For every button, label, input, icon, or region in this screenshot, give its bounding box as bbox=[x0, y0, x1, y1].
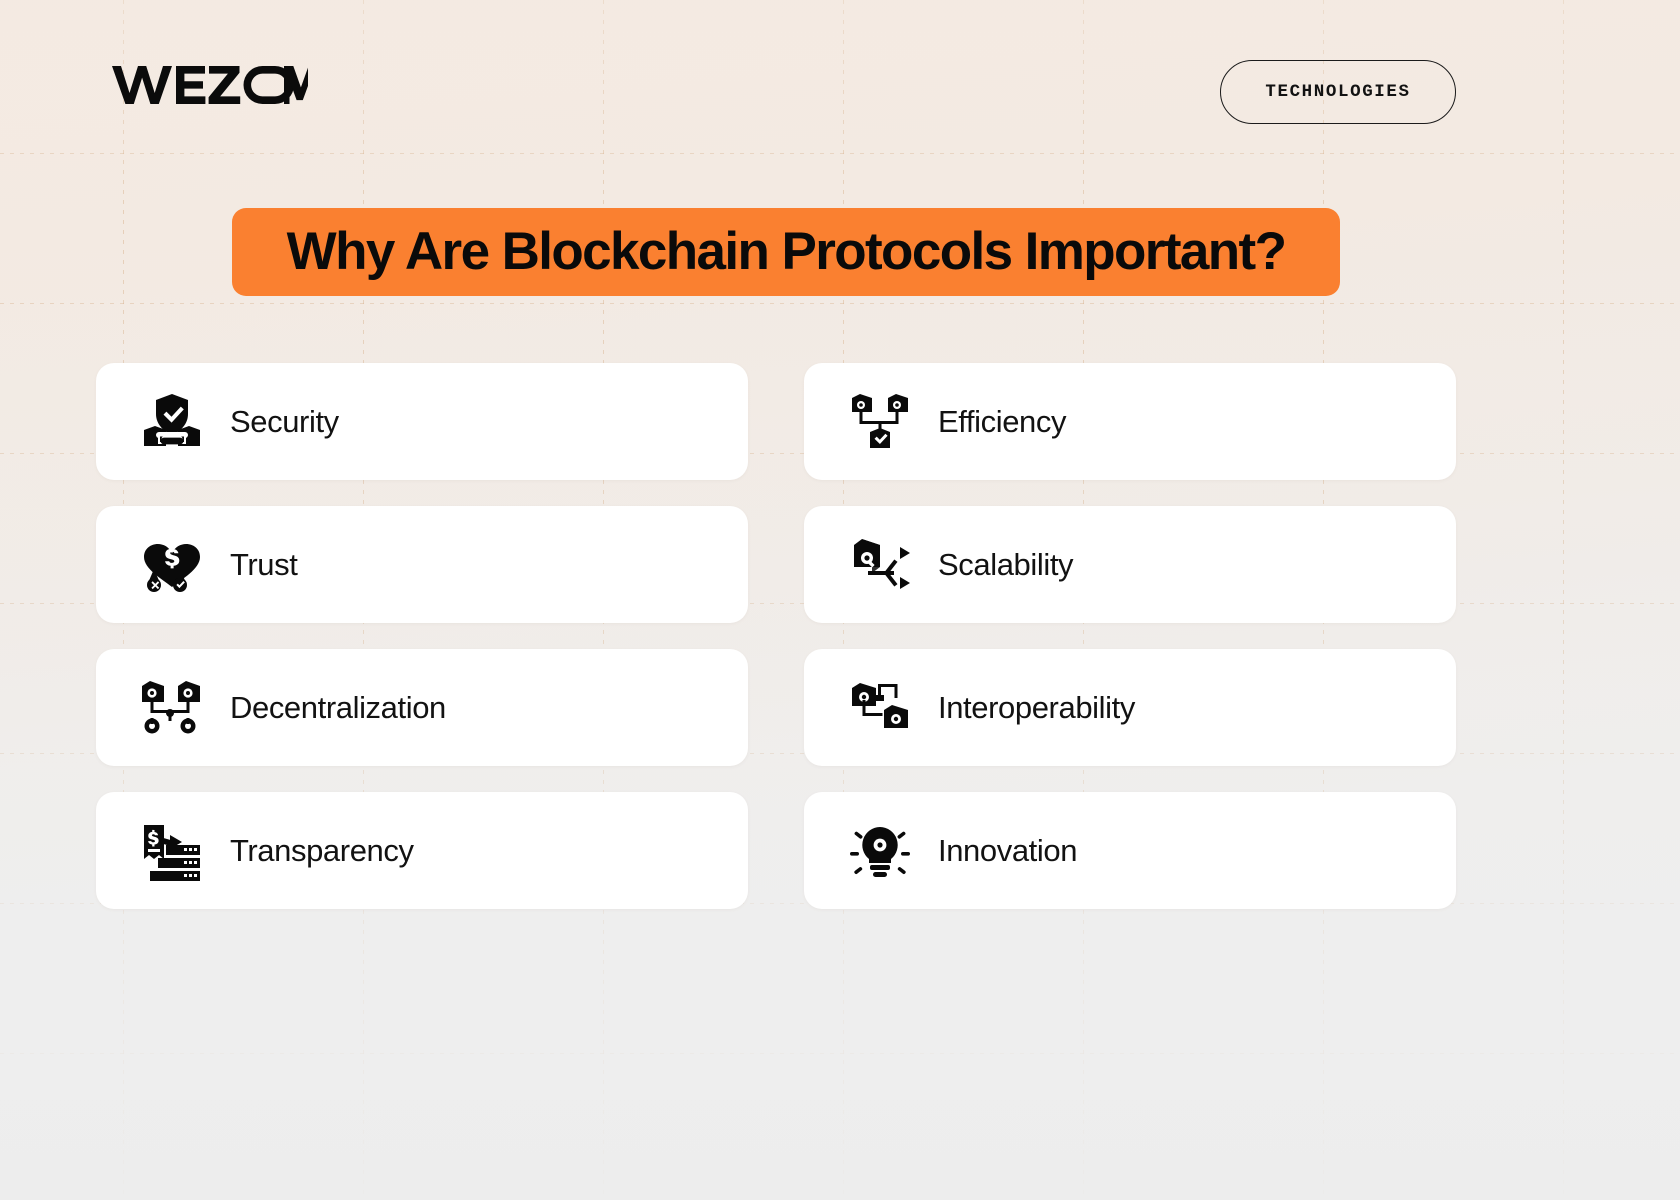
card-label: Decentralization bbox=[230, 692, 446, 723]
card-label: Interoperability bbox=[938, 692, 1135, 723]
card-trust[interactable]: Trust bbox=[96, 506, 748, 623]
card-label: Efficiency bbox=[938, 406, 1066, 437]
cube-branching-arrows-icon bbox=[844, 529, 916, 601]
page-title: Why Are Blockchain Protocols Important? bbox=[287, 225, 1286, 278]
technologies-badge-label: TECHNOLOGIES bbox=[1265, 82, 1410, 102]
card-label: Transparency bbox=[230, 835, 414, 866]
distributed-nodes-icon bbox=[136, 672, 208, 744]
benefits-card-grid: Security Efficiency bbox=[96, 363, 1552, 909]
wezom-logo[interactable] bbox=[112, 62, 308, 106]
lightbulb-idea-icon bbox=[844, 815, 916, 887]
card-label: Innovation bbox=[938, 835, 1077, 866]
invoice-server-icon bbox=[136, 815, 208, 887]
card-label: Trust bbox=[230, 549, 297, 580]
cube-node-check-icon bbox=[844, 386, 916, 458]
technologies-badge[interactable]: TECHNOLOGIES bbox=[1220, 60, 1456, 124]
title-banner: Why Are Blockchain Protocols Important? bbox=[232, 208, 1340, 296]
card-efficiency[interactable]: Efficiency bbox=[804, 363, 1456, 480]
page-header: TECHNOLOGIES bbox=[0, 0, 1680, 182]
card-label: Security bbox=[230, 406, 339, 437]
card-transparency[interactable]: Transparency bbox=[96, 792, 748, 909]
card-security[interactable]: Security bbox=[96, 363, 748, 480]
card-innovation[interactable]: Innovation bbox=[804, 792, 1456, 909]
heart-dollar-icon bbox=[136, 529, 208, 601]
wezom-logo-mark bbox=[112, 62, 308, 106]
card-interoperability[interactable]: Interoperability bbox=[804, 649, 1456, 766]
card-label: Scalability bbox=[938, 549, 1073, 580]
card-scalability[interactable]: Scalability bbox=[804, 506, 1456, 623]
linked-cubes-icon bbox=[844, 672, 916, 744]
shield-check-blocks-icon bbox=[136, 386, 208, 458]
card-decentralization[interactable]: Decentralization bbox=[96, 649, 748, 766]
